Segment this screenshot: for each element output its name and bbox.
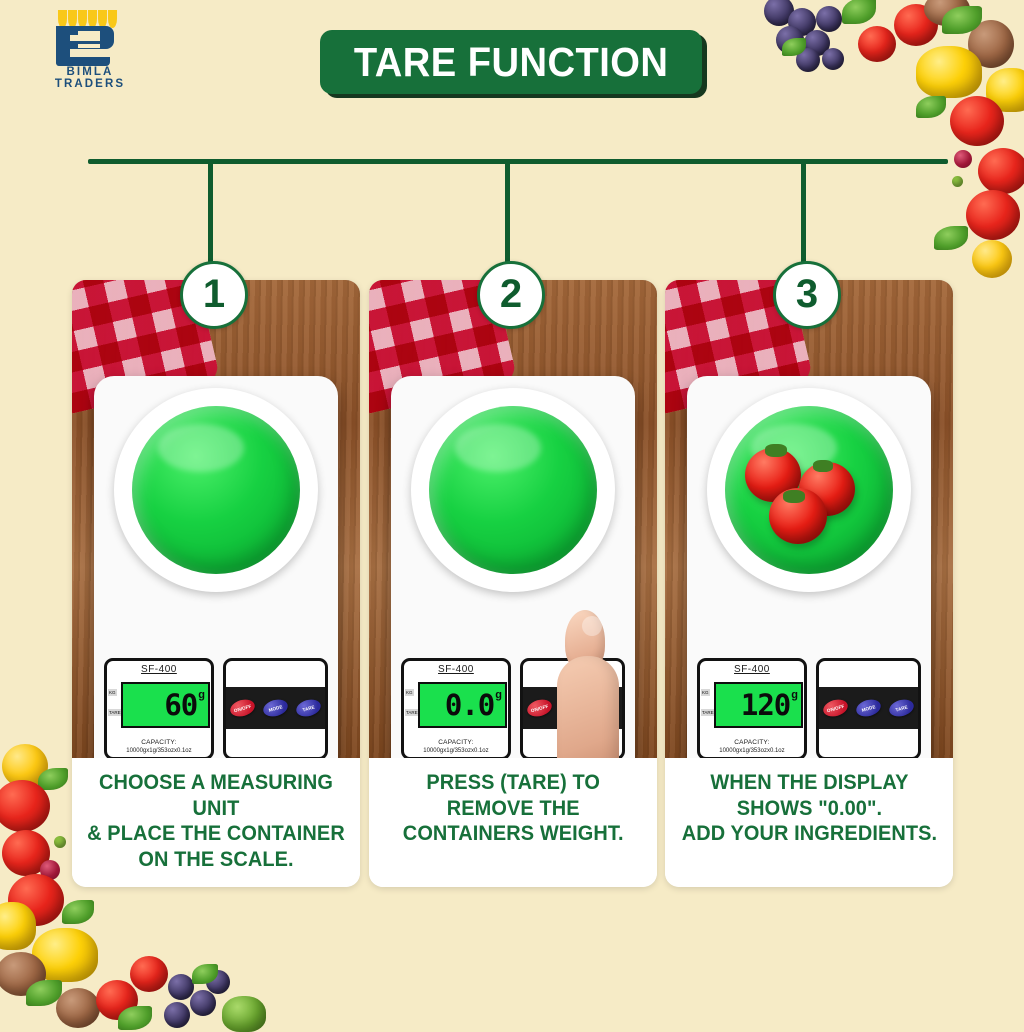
kitchen-scale: SF-400 KG TARE G OZ 60 g CAPACITY: 10000… bbox=[94, 376, 338, 758]
scale-platter bbox=[114, 388, 318, 592]
keypad-strip: ON/OFF MODE TARE bbox=[819, 687, 918, 729]
capacity-block: CAPACITY: 10000gx1g/353ozx0.1oz bbox=[700, 739, 804, 755]
scale-reading: 0.0 bbox=[445, 691, 494, 720]
scale-model: SF-400 bbox=[404, 664, 508, 675]
brand-name: BIMLA TRADERS bbox=[38, 66, 142, 90]
page-title: TARE FUNCTION bbox=[354, 39, 669, 86]
decor-top-right bbox=[754, 0, 1024, 300]
green-pea-icon bbox=[54, 836, 66, 848]
grape-icon bbox=[796, 48, 820, 72]
step-card-2[interactable]: SF-400 KG TARE G OZ 0.0 g CAPACITY: 1000… bbox=[369, 280, 657, 887]
step-caption: WHEN THE DISPLAY SHOWS "0.00". ADD YOUR … bbox=[681, 770, 936, 847]
tomato-icon bbox=[966, 190, 1020, 240]
tomato-icon bbox=[978, 148, 1024, 194]
step-caption-box: CHOOSE A MEASURING UNIT & PLACE THE CONT… bbox=[72, 758, 360, 887]
bell-pepper-icon bbox=[32, 928, 98, 982]
grape-icon bbox=[816, 6, 842, 32]
step-caption-box: PRESS (TARE) TO REMOVE THE CONTAINERS WE… bbox=[369, 758, 657, 887]
yellow-tomato-icon bbox=[2, 744, 48, 788]
lcd-label-kg: KG bbox=[108, 689, 117, 696]
step-photo: SF-400 KG TARE G OZ 120 g CAPACITY: 1000… bbox=[665, 280, 953, 758]
step-caption-box: WHEN THE DISPLAY SHOWS "0.00". ADD YOUR … bbox=[665, 758, 953, 887]
pointing-finger bbox=[557, 610, 619, 758]
grape-icon bbox=[804, 30, 830, 56]
step-badge-3: 3 bbox=[773, 261, 841, 329]
keypad-housing: ON/OFF MODE TARE bbox=[816, 658, 921, 758]
finger-nail bbox=[582, 616, 602, 636]
connector-drop-3 bbox=[801, 160, 806, 265]
bowl-highlight bbox=[158, 424, 244, 472]
scale-reading: 60 bbox=[164, 691, 197, 720]
tomato-icon bbox=[858, 26, 896, 62]
title-banner: TARE FUNCTION bbox=[320, 30, 702, 94]
scale-unit: g bbox=[791, 689, 798, 701]
onoff-button[interactable]: ON/OFF bbox=[821, 697, 849, 719]
tomato-icon bbox=[2, 830, 50, 876]
tomato-stem-icon bbox=[783, 490, 805, 503]
leaf-icon bbox=[118, 1006, 152, 1030]
lcd-screen: 60 g bbox=[121, 682, 210, 728]
green-bowl bbox=[132, 406, 300, 574]
tomato-icon bbox=[0, 780, 50, 832]
bowl-highlight bbox=[455, 424, 541, 472]
lcd-screen: 120 g bbox=[714, 682, 803, 728]
lcd-housing: SF-400 KG TARE G OZ 120 g CAPACITY: 1000… bbox=[697, 658, 807, 758]
lcd-screen: 0.0 g bbox=[418, 682, 507, 728]
step-photo: SF-400 KG TARE G OZ 0.0 g CAPACITY: 1000… bbox=[369, 280, 657, 758]
onoff-button[interactable]: ON/OFF bbox=[525, 697, 553, 719]
capacity-label: CAPACITY: bbox=[404, 739, 508, 747]
tare-button[interactable]: TARE bbox=[887, 697, 915, 719]
onion-icon bbox=[968, 20, 1014, 68]
lcd-label-kg: KG bbox=[405, 689, 414, 696]
kitchen-scale: SF-400 KG TARE G OZ 120 g CAPACITY: 1000… bbox=[687, 376, 931, 758]
tomato-icon bbox=[130, 956, 168, 992]
keypad-housing: ON/OFF MODE TARE bbox=[223, 658, 328, 758]
connector-rail bbox=[88, 159, 948, 164]
hand bbox=[557, 656, 619, 758]
onion-icon bbox=[924, 0, 970, 26]
lcd-label-kg: KG bbox=[701, 689, 710, 696]
storefront-icon bbox=[56, 26, 124, 66]
lcd-housing: SF-400 KG TARE G OZ 60 g CAPACITY: 10000… bbox=[104, 658, 214, 758]
scale-unit: g bbox=[495, 689, 502, 701]
cherry-icon bbox=[954, 150, 972, 168]
capacity-value: 10000gx1g/353ozx0.1oz bbox=[107, 748, 211, 756]
brand-logo: BIMLA TRADERS bbox=[38, 6, 142, 82]
lcd-label-tare: TARE bbox=[405, 709, 419, 716]
tomato-icon bbox=[950, 96, 1004, 146]
bell-pepper-icon bbox=[986, 68, 1024, 112]
grape-icon bbox=[168, 974, 194, 1000]
green-bowl bbox=[429, 406, 597, 574]
leaf-icon bbox=[192, 964, 218, 984]
tomato-icon bbox=[894, 4, 938, 46]
green-bowl bbox=[725, 406, 893, 574]
tomato-stem-icon bbox=[813, 460, 833, 472]
tare-button[interactable]: TARE bbox=[294, 697, 322, 719]
capacity-block: CAPACITY: 10000gx1g/353ozx0.1oz bbox=[404, 739, 508, 755]
lcd-housing: SF-400 KG TARE G OZ 0.0 g CAPACITY: 1000… bbox=[401, 658, 511, 758]
step-number: 2 bbox=[500, 274, 522, 314]
step-caption: CHOOSE A MEASURING UNIT & PLACE THE CONT… bbox=[79, 770, 353, 872]
scale-platter bbox=[411, 388, 615, 592]
capacity-block: CAPACITY: 10000gx1g/353ozx0.1oz bbox=[107, 739, 211, 755]
grape-icon bbox=[164, 1002, 190, 1028]
keypad-strip: ON/OFF MODE TARE bbox=[226, 687, 325, 729]
step-card-1[interactable]: SF-400 KG TARE G OZ 60 g CAPACITY: 10000… bbox=[72, 280, 360, 887]
grape-icon bbox=[190, 990, 216, 1016]
leaf-icon bbox=[842, 0, 876, 24]
onoff-button[interactable]: ON/OFF bbox=[228, 697, 256, 719]
lcd-label-tare: TARE bbox=[108, 709, 122, 716]
yellow-tomato-icon bbox=[972, 240, 1012, 278]
step-caption: PRESS (TARE) TO REMOVE THE CONTAINERS WE… bbox=[403, 770, 624, 847]
capacity-value: 10000gx1g/353ozx0.1oz bbox=[700, 748, 804, 756]
capacity-value: 10000gx1g/353ozx0.1oz bbox=[404, 748, 508, 756]
lcd-label-tare: TARE bbox=[701, 709, 715, 716]
leaf-icon bbox=[782, 38, 806, 56]
capacity-label: CAPACITY: bbox=[107, 739, 211, 747]
bell-pepper-icon bbox=[0, 902, 36, 950]
step-number: 3 bbox=[796, 274, 818, 314]
tomato-icon bbox=[96, 980, 138, 1020]
grape-icon bbox=[776, 26, 804, 54]
grape-icon bbox=[822, 48, 844, 70]
bell-pepper-icon bbox=[916, 46, 982, 98]
leaf-icon bbox=[62, 900, 94, 924]
scale-model: SF-400 bbox=[700, 664, 804, 675]
scale-model: SF-400 bbox=[107, 664, 211, 675]
connector-drop-2 bbox=[505, 160, 510, 265]
connector-drop-1 bbox=[208, 160, 213, 265]
cherry-icon bbox=[40, 860, 60, 880]
tomato-stem-icon bbox=[765, 444, 787, 457]
tomato-icon bbox=[8, 874, 64, 926]
onion-icon bbox=[0, 952, 46, 996]
leaf-icon bbox=[916, 96, 946, 118]
step-badge-1: 1 bbox=[180, 261, 248, 329]
mode-button[interactable]: MODE bbox=[854, 697, 882, 719]
onion-icon bbox=[56, 988, 100, 1028]
leaf-icon bbox=[26, 980, 62, 1006]
grape-icon bbox=[206, 970, 230, 994]
step-badge-2: 2 bbox=[477, 261, 545, 329]
mode-button[interactable]: MODE bbox=[261, 697, 289, 719]
scale-panel: SF-400 KG TARE G OZ 60 g CAPACITY: 10000… bbox=[104, 658, 328, 754]
step-number: 1 bbox=[203, 274, 225, 314]
bell-pepper-icon bbox=[222, 996, 266, 1032]
capacity-label: CAPACITY: bbox=[700, 739, 804, 747]
grape-icon bbox=[788, 8, 816, 36]
scale-panel: SF-400 KG TARE G OZ 120 g CAPACITY: 1000… bbox=[697, 658, 921, 754]
leaf-icon bbox=[934, 226, 968, 250]
grape-icon bbox=[764, 0, 794, 26]
step-photo: SF-400 KG TARE G OZ 60 g CAPACITY: 10000… bbox=[72, 280, 360, 758]
scale-unit: g bbox=[198, 689, 205, 701]
scale-reading: 120 bbox=[741, 691, 790, 720]
leaf-icon bbox=[38, 768, 68, 790]
scale-platter bbox=[707, 388, 911, 592]
step-card-3[interactable]: SF-400 KG TARE G OZ 120 g CAPACITY: 1000… bbox=[665, 280, 953, 887]
green-pea-icon bbox=[952, 176, 963, 187]
leaf-icon bbox=[942, 6, 982, 34]
